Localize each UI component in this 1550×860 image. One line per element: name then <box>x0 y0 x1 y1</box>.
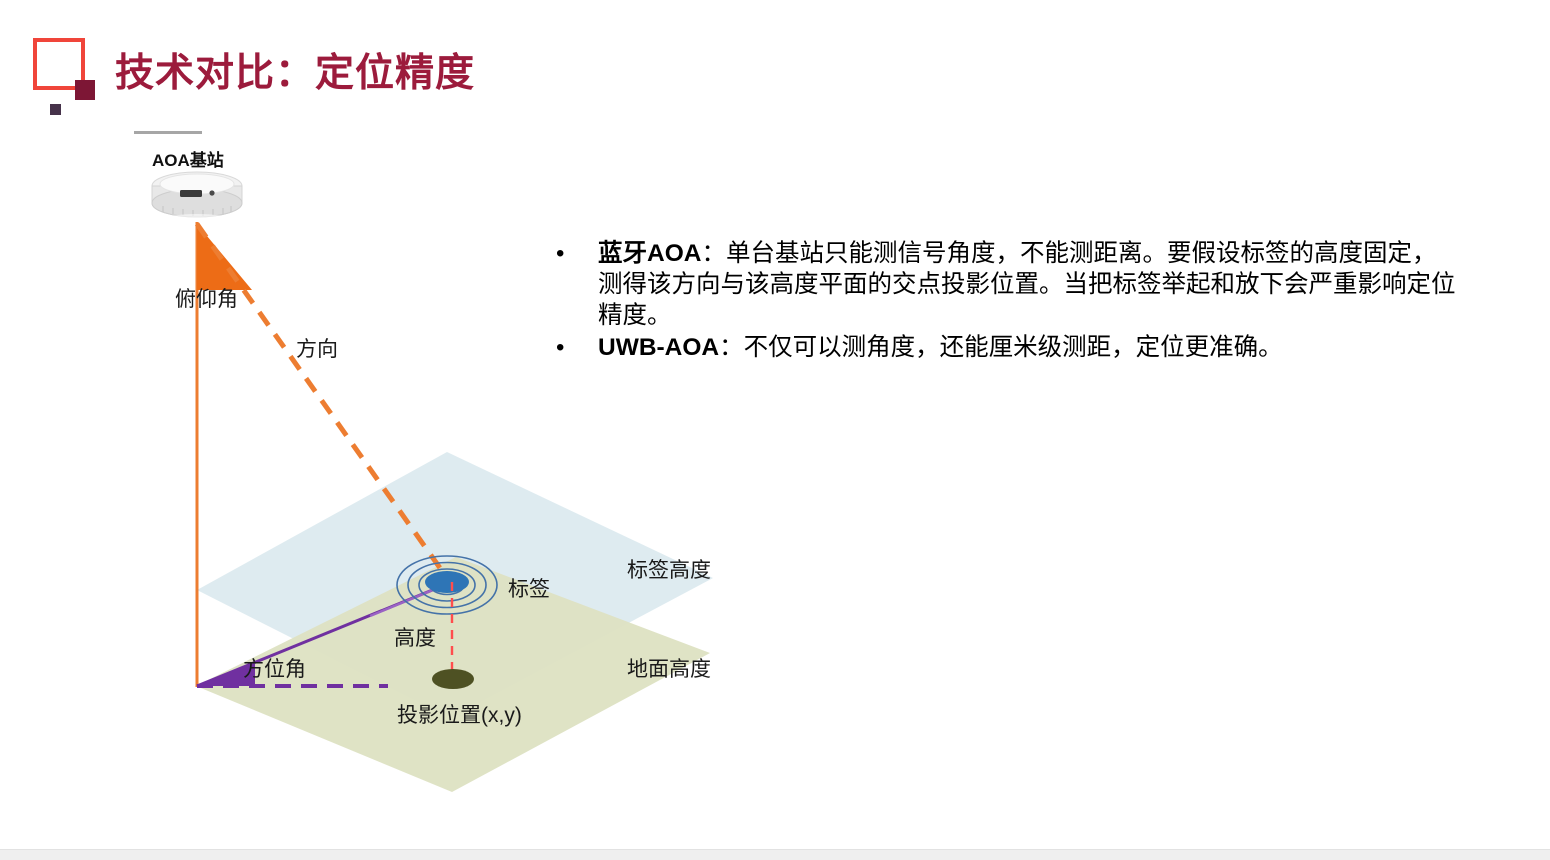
label-azimuth-angle: 方位角 <box>243 653 306 683</box>
azimuth-edge-line-upper <box>370 582 452 616</box>
list-item: • 蓝牙AOA：单台基站只能测信号角度，不能测距离。要假设标签的高度固定，测得该… <box>556 238 1456 331</box>
label-ground-height-plane: 地面高度 <box>627 653 711 683</box>
slide-bottom-strip <box>0 849 1550 860</box>
tag-signal-ripples <box>397 556 497 614</box>
slide: 技术对比：定位精度 <box>0 0 1550 860</box>
bullet-marker-icon: • <box>556 238 598 269</box>
label-tag-height-plane: 标签高度 <box>627 554 711 584</box>
bullet-lead-label: UWB-AOA <box>598 334 719 361</box>
label-height: 高度 <box>394 622 436 652</box>
bullet-list: • 蓝牙AOA：单台基站只能测信号角度，不能测距离。要假设标签的高度固定，测得该… <box>556 238 1456 364</box>
bullet-marker-icon: • <box>556 332 598 363</box>
label-elevation-angle: 俯仰角 <box>175 283 238 313</box>
label-projected-position: 投影位置(x,y) <box>397 699 522 729</box>
bullet-body: UWB-AOA：不仅可以测角度，还能厘米级测距，定位更准确。 <box>598 332 1456 363</box>
aoa-base-station-icon <box>152 172 242 224</box>
projected-position-marker <box>432 669 474 689</box>
list-item: • UWB-AOA：不仅可以测角度，还能厘米级测距，定位更准确。 <box>556 332 1456 363</box>
direction-ray <box>197 224 452 585</box>
decoration-small-square <box>50 104 61 115</box>
bullet-text: ：单台基站只能测信号角度，不能测距离。要假设标签的高度固定，测得该方向与该高度平… <box>598 240 1456 329</box>
base-station-label: AOA基站 <box>152 146 224 171</box>
bullet-lead-label: 蓝牙AOA <box>598 240 701 267</box>
tag-marker <box>425 571 469 593</box>
base-station-underline <box>134 131 202 134</box>
bullet-body: 蓝牙AOA：单台基站只能测信号角度，不能测距离。要假设标签的高度固定，测得该方向… <box>598 238 1456 331</box>
elevation-angle-wedge <box>197 224 252 290</box>
title-decoration <box>33 38 99 120</box>
label-direction: 方向 <box>296 333 338 363</box>
bullet-text: ：不仅可以测角度，还能厘米级测距，定位更准确。 <box>719 334 1283 361</box>
positioning-diagram <box>0 0 1550 860</box>
decoration-filled-square <box>75 80 95 100</box>
page-title: 技术对比：定位精度 <box>115 42 475 98</box>
label-tag: 标签 <box>508 573 550 603</box>
